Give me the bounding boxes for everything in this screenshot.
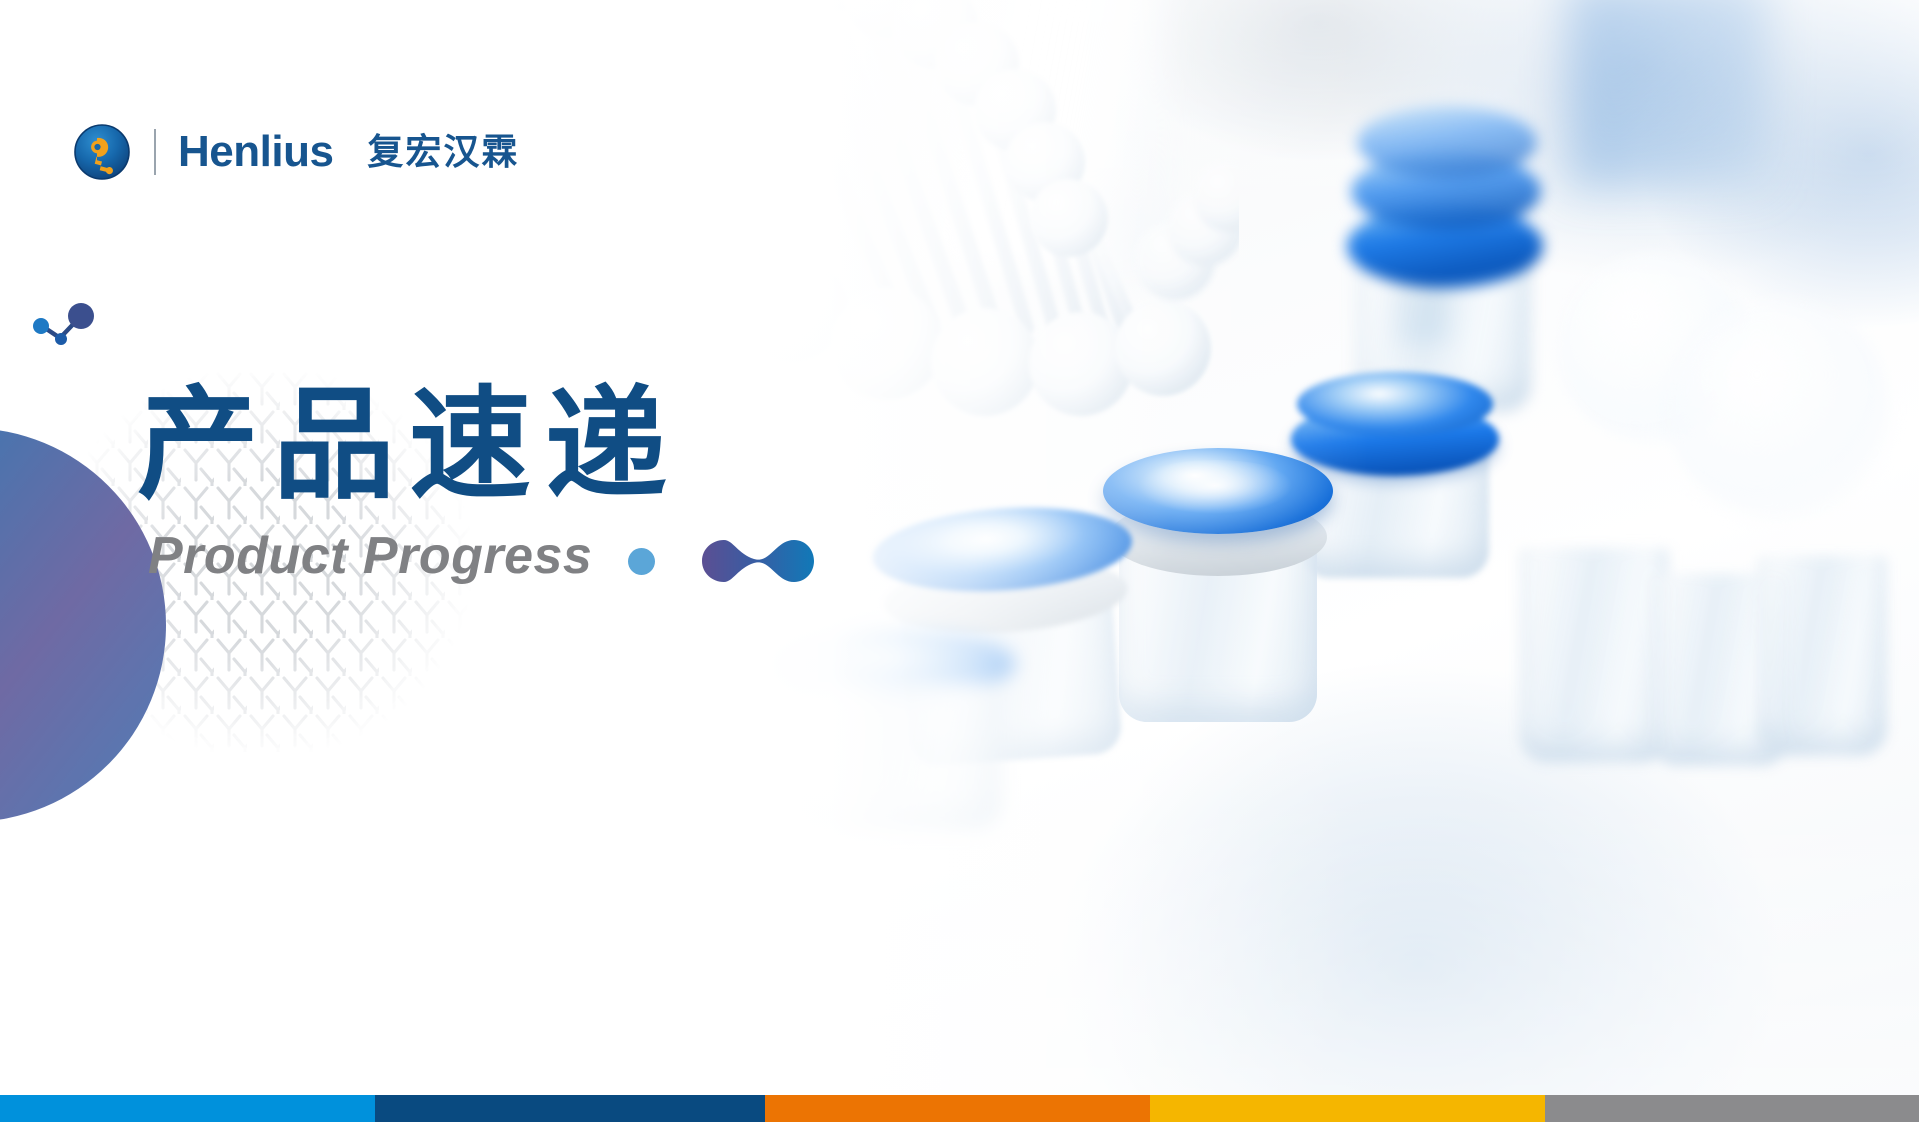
bokeh-4 xyxy=(1669,300,1889,520)
logo-wordmark: Henlius xyxy=(178,130,333,174)
page-subtitle: Product Progress xyxy=(148,526,592,586)
henlius-circle-mark-icon xyxy=(74,124,130,180)
molecule-accent-icon xyxy=(694,528,826,594)
color-bar-segment-dark-blue xyxy=(375,1095,765,1122)
brand-color-bar xyxy=(0,1095,1919,1122)
slide-cover: Henlius 复宏汉霖 产品速递 Product Progress xyxy=(0,0,1919,1122)
accent-dot xyxy=(628,548,655,575)
color-bar-segment-light-blue xyxy=(0,1095,375,1122)
color-bar-segment-orange xyxy=(765,1095,1150,1122)
color-bar-segment-gray xyxy=(1545,1095,1919,1122)
brand-logo[interactable]: Henlius 复宏汉霖 xyxy=(74,124,519,180)
page-title: 产品速递 xyxy=(137,380,681,512)
logo-chinese-name: 复宏汉霖 xyxy=(367,134,519,170)
mini-molecule-icon xyxy=(30,302,100,364)
logo-divider xyxy=(154,129,156,175)
color-bar-segment-amber xyxy=(1150,1095,1545,1122)
